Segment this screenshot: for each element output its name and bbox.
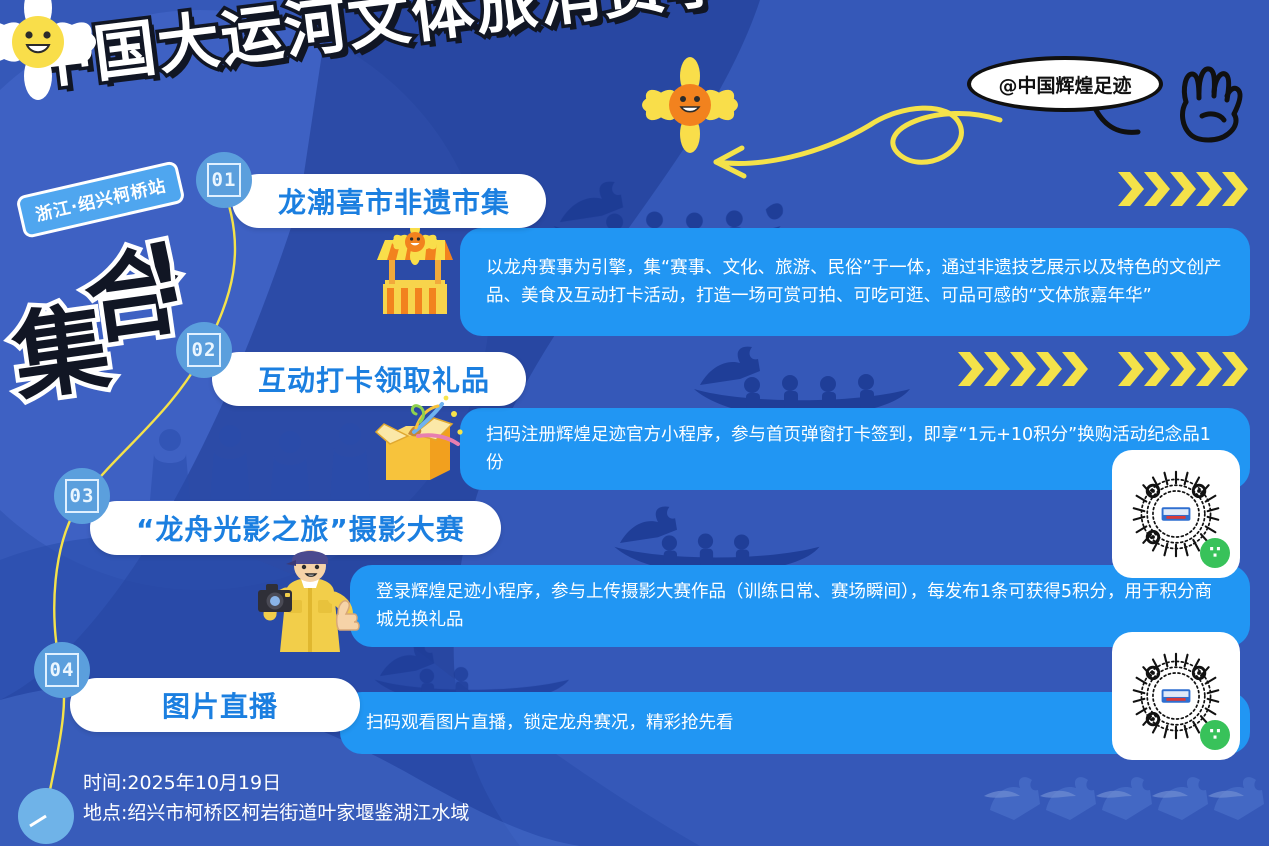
- footer-place: 地点:绍兴市柯桥区柯岩街道叶家堰鉴湖江水域: [83, 798, 469, 828]
- daisy-flower-icon: [0, 0, 98, 102]
- footer-info: 时间:2025年10月19日 地点:绍兴市柯桥区柯岩街道叶家堰鉴湖江水域: [83, 768, 469, 828]
- section-title-01-text: 龙潮喜市非遗市集: [278, 181, 510, 221]
- sunflower-icon: [640, 55, 740, 155]
- section-card-04-text: 扫码观看图片直播，锁定龙舟赛况，精彩抢先看: [340, 709, 760, 737]
- chevron-arrows-row-2: [958, 348, 1090, 390]
- section-title-01: 龙潮喜市非遗市集: [232, 174, 546, 228]
- section-number-04-text: 04: [50, 659, 75, 681]
- section-number-03: 03: [54, 468, 110, 524]
- wechat-badge-icon: ∵: [1200, 720, 1230, 750]
- hand-gesture-icon: [1172, 58, 1248, 148]
- section-card-01: 以龙舟赛事为引擎，集“赛事、文化、旅游、民俗”于一体，通过非遗技艺展示以及特色的…: [460, 228, 1250, 336]
- footer-endpoint-dot: [16, 786, 80, 846]
- section-number-04: 04: [34, 642, 90, 698]
- section-number-02: 02: [176, 322, 232, 378]
- section-title-04: 图片直播: [70, 678, 360, 732]
- qr-code-section-04[interactable]: ∵: [1112, 632, 1240, 760]
- chevron-arrows-row-3: [1118, 348, 1250, 390]
- section-number-01-text: 01: [212, 169, 237, 191]
- photographer-icon: [252, 540, 372, 656]
- section-number-01: 01: [196, 152, 252, 208]
- section-card-03-text: 登录辉煌足迹小程序，参与上传摄影大赛作品（训练日常、赛场瞬间），每发布1条可获得…: [350, 578, 1250, 635]
- section-card-01-text: 以龙舟赛事为引擎，集“赛事、文化、旅游、民俗”于一体，通过非遗技艺展示以及特色的…: [460, 254, 1250, 311]
- section-title-04-text: 图片直播: [162, 685, 278, 725]
- section-card-03: 登录辉煌足迹小程序，参与上传摄影大赛作品（训练日常、赛场瞬间），每发布1条可获得…: [350, 565, 1250, 647]
- market-stall-icon: [365, 228, 465, 326]
- qr-code-section-02[interactable]: ∵: [1112, 450, 1240, 578]
- poster-canvas: 中国大运河文体旅消费季 @中国辉煌足迹 浙江·绍兴柯桥站 集 合 !: [0, 0, 1269, 846]
- section-number-02-text: 02: [192, 339, 217, 361]
- wechat-badge-icon: ∵: [1200, 538, 1230, 568]
- gift-box-icon: [358, 388, 468, 488]
- footer-time: 时间:2025年10月19日: [83, 768, 469, 798]
- section-number-03-text: 03: [70, 485, 95, 507]
- chevron-arrows-row-1: [1118, 168, 1250, 210]
